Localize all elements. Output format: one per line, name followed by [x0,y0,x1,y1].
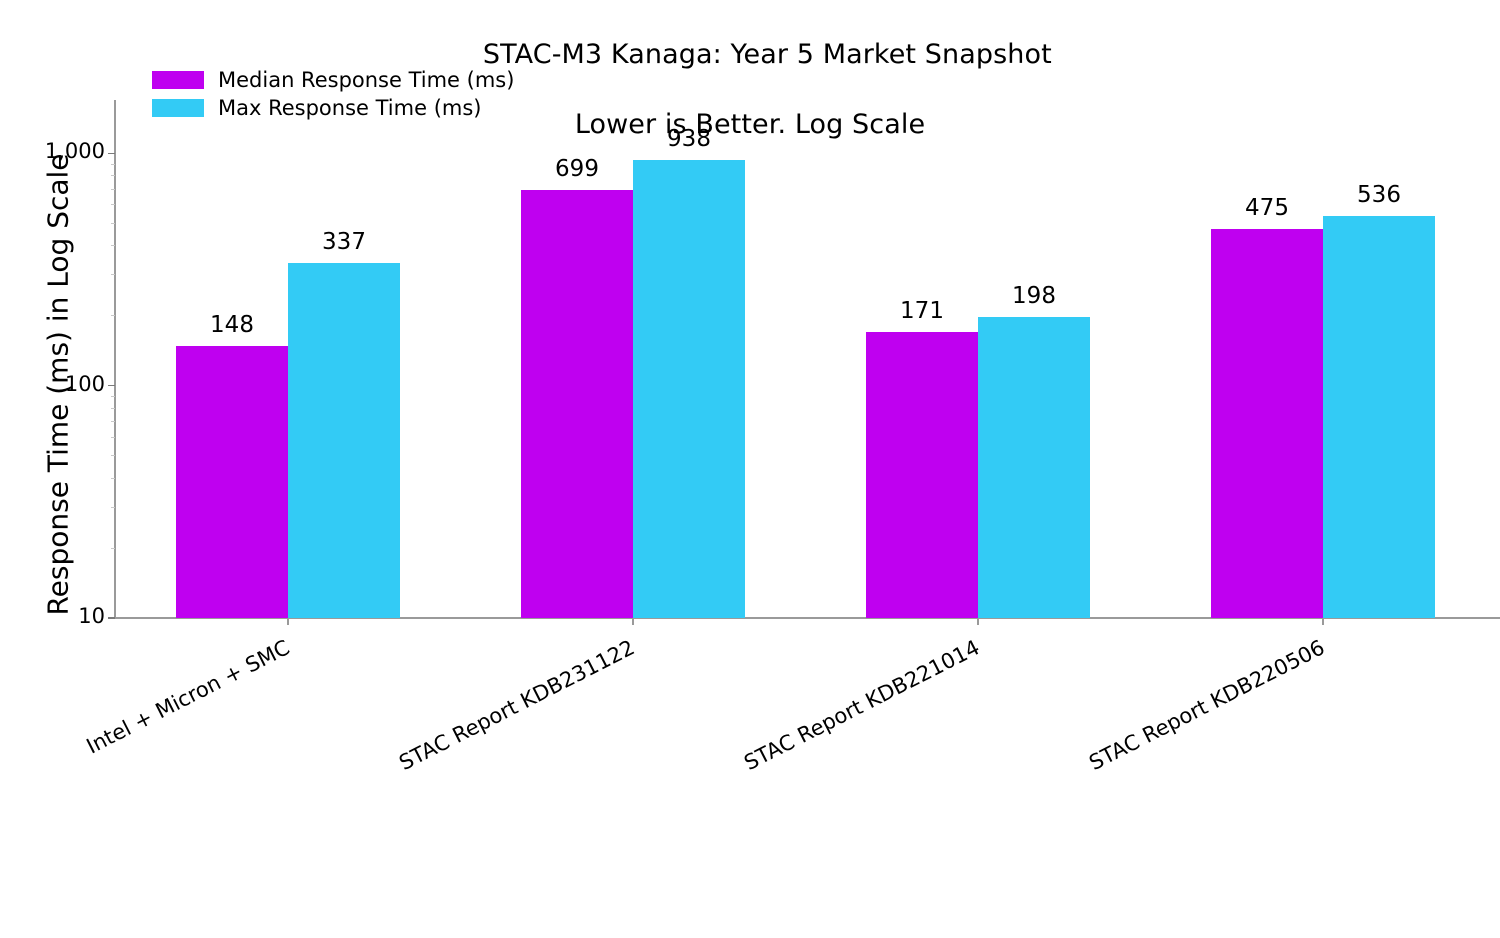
bar [1323,216,1435,618]
y-minor-tick-mark [111,548,115,549]
bar-value-label: 337 [268,229,420,255]
y-tick-label: 1,000 [0,139,105,163]
bar-value-label: 536 [1303,182,1455,208]
y-minor-tick-mark [111,408,115,409]
y-minor-tick-mark [111,175,115,176]
bar-value-label: 699 [501,156,653,182]
x-tick-label: STAC Report KDB221014 [420,635,983,938]
y-axis-spine [114,100,116,619]
x-tick-label: STAC Report KDB220506 [765,635,1328,938]
legend-swatch-median [152,71,204,89]
bar [633,160,745,618]
y-minor-tick-mark [111,245,115,246]
y-tick-label: 10 [0,604,105,628]
legend-item-max[interactable]: Max Response Time (ms) [152,94,514,122]
x-tick-mark [1322,619,1324,625]
x-tick-mark [632,619,634,625]
bar [176,346,288,618]
bar [866,332,978,618]
legend-label-median: Median Response Time (ms) [218,68,514,92]
y-minor-tick-mark [111,204,115,205]
y-minor-tick-mark [111,455,115,456]
legend-swatch-max [152,99,204,117]
y-minor-tick-mark [111,315,115,316]
chart-title-line-1: STAC-M3 Kanaga: Year 5 Market Snapshot [483,39,1052,70]
y-tick-mark [108,385,115,387]
legend-item-median[interactable]: Median Response Time (ms) [152,66,514,94]
y-minor-tick-mark [111,223,115,224]
x-tick-mark [287,619,289,625]
bar [978,317,1090,618]
y-tick-label: 100 [0,372,105,396]
y-minor-tick-mark [111,164,115,165]
bar-value-label: 198 [958,283,1110,309]
legend-label-max: Max Response Time (ms) [218,96,481,120]
y-minor-tick-mark [111,437,115,438]
bar-chart: STAC-M3 Kanaga: Year 5 Market Snapshot L… [0,0,1500,767]
y-tick-mark [108,617,115,619]
y-minor-tick-mark [111,421,115,422]
chart-legend: Median Response Time (ms) Max Response T… [152,66,514,122]
bar-value-label: 938 [613,126,765,152]
y-minor-tick-mark [111,507,115,508]
x-tick-mark [977,619,979,625]
bar [521,190,633,618]
y-tick-mark [108,153,115,155]
y-minor-tick-mark [111,274,115,275]
bar-value-label: 148 [156,312,308,338]
x-tick-label: STAC Report KDB231122 [75,635,638,938]
bar [1211,229,1323,618]
y-minor-tick-mark [111,396,115,397]
y-minor-tick-mark [111,478,115,479]
y-minor-tick-mark [111,189,115,190]
